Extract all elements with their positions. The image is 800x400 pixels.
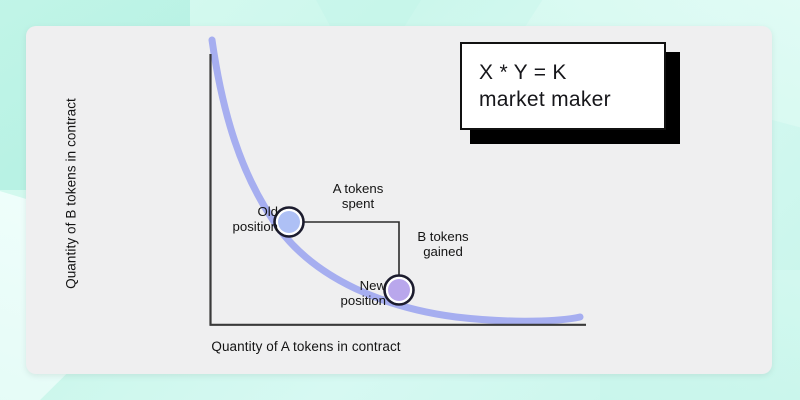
formula-card: X * Y = K market maker — [460, 42, 666, 130]
old-position-label: Old position — [186, 204, 278, 234]
x-axis-label: Quantity of A tokens in contract — [26, 339, 586, 354]
formula-subtitle: market maker — [479, 86, 664, 113]
new-position-marker[interactable] — [385, 276, 414, 305]
old-position-marker[interactable] — [275, 208, 304, 237]
formula-callout: X * Y = K market maker $ — [460, 42, 680, 142]
new-position-label: New position — [276, 278, 386, 308]
formula-equation: X * Y = K — [479, 59, 664, 86]
b-tokens-gained-label: B tokens gained — [398, 229, 488, 259]
y-axis-label: Quantity of B tokens in contract — [64, 64, 79, 324]
a-tokens-spent-label: A tokens spent — [298, 181, 418, 211]
screenshot-root: Quantity of B tokens in contract Quantit… — [0, 0, 800, 400]
content-card: Quantity of B tokens in contract Quantit… — [26, 26, 772, 374]
